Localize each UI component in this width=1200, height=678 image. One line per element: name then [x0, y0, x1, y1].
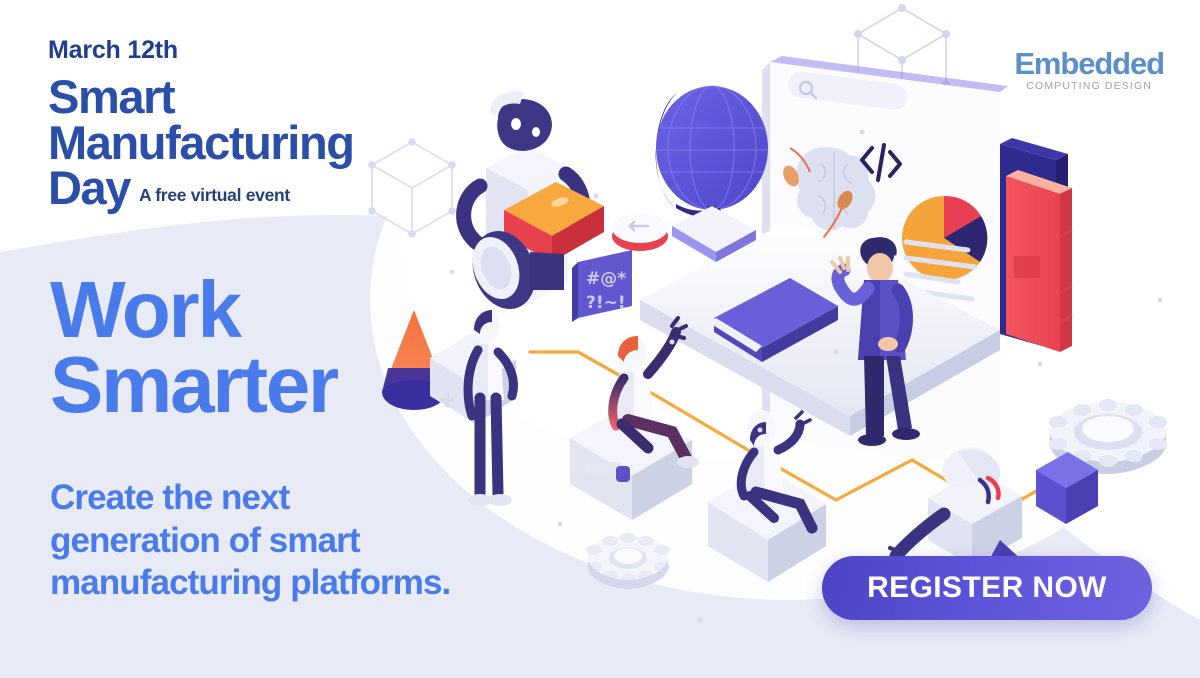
event-title: Smart Manufacturing Day A free virtual e… [48, 74, 608, 211]
logo-wordmark: Embedded [1014, 48, 1164, 79]
subcopy: Create the next generation of smart manu… [50, 477, 590, 605]
headline-line-1: Work [50, 272, 337, 347]
event-text-block: March 12th Smart Manufacturing Day A fre… [48, 38, 608, 211]
brand-logo[interactable]: Embedded COMPUTING DESIGN [1014, 48, 1164, 92]
logo-tagline: COMPUTING DESIGN [1014, 81, 1164, 92]
event-title-line-2: Manufacturing [48, 120, 608, 166]
headline: Work Smarter [50, 272, 337, 422]
subcopy-line-1: Create the next [50, 477, 590, 520]
event-tagline: A free virtual event [139, 187, 290, 211]
subcopy-line-3: manufacturing platforms. [50, 562, 590, 605]
event-date: March 12th [48, 38, 608, 63]
event-title-line-3: Day [48, 165, 130, 211]
promo-banner: #@* ?!~! [0, 0, 1200, 678]
headline-line-2: Smarter [50, 347, 337, 422]
event-title-line-1: Smart [48, 74, 608, 120]
register-now-button[interactable]: REGISTER NOW [822, 556, 1152, 620]
register-now-label: REGISTER NOW [867, 571, 1107, 605]
subcopy-line-2: generation of smart [50, 520, 590, 563]
